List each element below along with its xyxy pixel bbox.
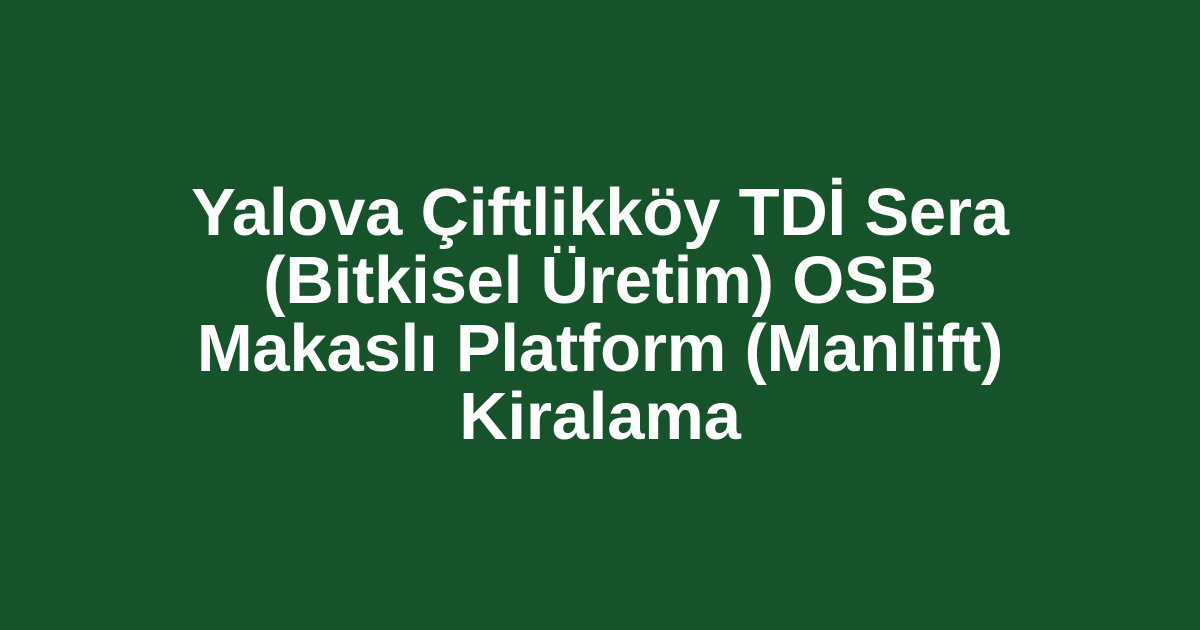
title-block: Yalova Çiftlikköy TDİ Sera (Bitkisel Üre… (140, 179, 1060, 451)
page-title: Yalova Çiftlikköy TDİ Sera (Bitkisel Üre… (160, 179, 1040, 451)
og-card: Yalova Çiftlikköy TDİ Sera (Bitkisel Üre… (0, 0, 1200, 630)
